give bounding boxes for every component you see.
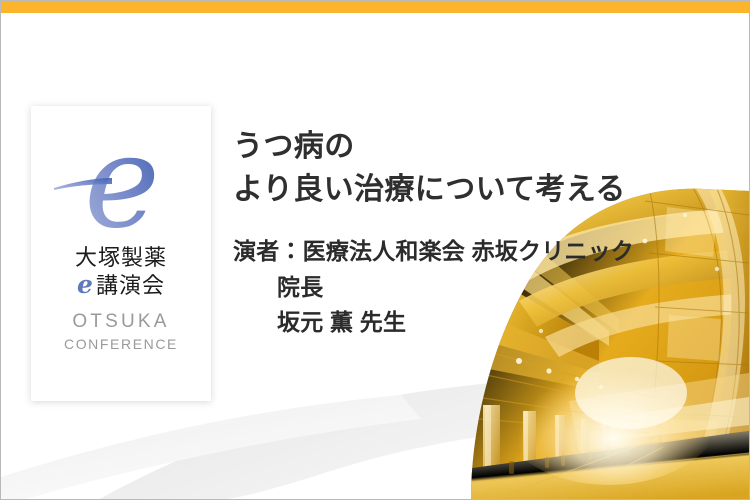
slide-text-block: うつ病の より良い治療について考える 演者：医療法人和楽会 赤坂クリニック 院長…: [233, 126, 703, 341]
otsuka-logo-card: e 大塚製薬 e 講演会 OTSUKA CONFERENCE: [31, 106, 211, 401]
speaker-info: 演者：医療法人和楽会 赤坂クリニック 院長 坂元 薫 先生: [233, 234, 703, 341]
logo-japanese-text: 大塚製薬 e 講演会: [75, 246, 167, 299]
page-title: うつ病の より良い治療について考える: [233, 126, 703, 211]
logo-e-glyph: e: [77, 272, 96, 297]
speaker-line-affiliation: 演者：医療法人和楽会 赤坂クリニック: [233, 234, 703, 270]
e-logo-icon: e: [46, 122, 196, 242]
title-line-2: より良い治療について考える: [233, 169, 703, 212]
logo-english-text: OTSUKA CONFERENCE: [64, 310, 178, 353]
title-line-1: うつ病の: [233, 126, 703, 169]
logo-company-name: 大塚製薬: [75, 246, 167, 272]
speaker-line-position: 院長: [233, 270, 703, 306]
logo-brand-otsuka: OTSUKA: [64, 310, 178, 334]
speaker-line-name: 坂元 薫 先生: [233, 305, 703, 341]
logo-service-label: 講演会: [96, 274, 165, 300]
logo-service-name: e 講演会: [75, 272, 167, 300]
top-accent-bar: [1, 1, 749, 13]
logo-brand-conference: CONFERENCE: [64, 335, 178, 353]
title-slide: e 大塚製薬 e 講演会 OTSUKA CONFERENCE うつ病の より良い…: [0, 0, 750, 500]
